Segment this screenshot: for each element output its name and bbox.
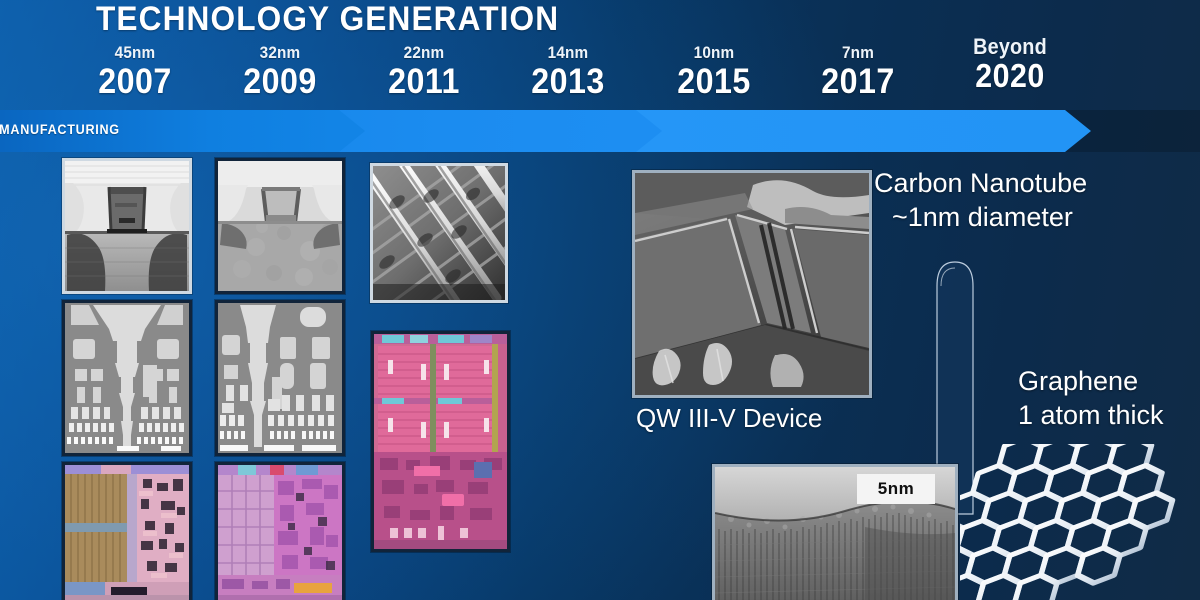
node-year: 2009 xyxy=(206,62,353,102)
slide-canvas: TECHNOLOGY GENERATION 45nm 2007 32nm 200… xyxy=(0,0,1200,600)
scale-bar-label: 5nm xyxy=(857,474,935,504)
phase-segment-manufacturing[interactable]: MANUFACTURING xyxy=(0,110,339,152)
carbon-nanotube-note: Carbon Nanotube ~1nm diameter xyxy=(874,166,1087,234)
node-year: 2013 xyxy=(494,62,641,102)
interconnect-32nm-micrograph xyxy=(218,303,342,453)
node-year: 2007 xyxy=(61,62,208,102)
graphene-honeycomb-lattice xyxy=(960,444,1200,600)
node-year: 2020 xyxy=(936,56,1083,96)
node-year: 2015 xyxy=(640,62,787,102)
node-label: 14nm xyxy=(496,44,640,62)
image-finfet-22nm xyxy=(370,163,508,303)
timeline-node-3: 14nm 2013 xyxy=(488,44,648,102)
cnt-line-2: ~1nm diameter xyxy=(892,200,1073,234)
timeline-node-2: 22nm 2011 xyxy=(344,44,504,102)
die-45nm-photo xyxy=(65,465,189,600)
node-label: Beyond xyxy=(938,38,1082,56)
transistor-32nm-micrograph xyxy=(218,161,342,291)
transistor-45nm-micrograph xyxy=(65,161,189,291)
finfet-sem-micrograph xyxy=(373,166,505,300)
graphene-illustration xyxy=(960,444,1200,600)
timeline-node-1: 32nm 2009 xyxy=(200,44,360,102)
image-qw-device xyxy=(632,170,872,398)
image-interconnect-45nm xyxy=(62,300,192,456)
die-22nm-photo xyxy=(374,334,507,549)
image-transistor-32nm xyxy=(215,158,345,294)
qw-device-caption: QW III-V Device xyxy=(636,403,822,434)
node-label: 10nm xyxy=(642,44,786,62)
node-label: 32nm xyxy=(208,44,352,62)
node-label: 7nm xyxy=(786,44,930,62)
page-title: TECHNOLOGY GENERATION xyxy=(96,0,559,38)
image-transistor-45nm xyxy=(62,158,192,294)
qw-device-sem xyxy=(635,173,869,395)
node-year: 2011 xyxy=(350,62,497,102)
timeline-phase-band: RESEARCH DEVELOPMENT MANUFACTURING xyxy=(0,110,1200,152)
phase-label: MANUFACTURING xyxy=(0,121,212,137)
image-die-22nm xyxy=(371,331,510,552)
graphene-line-2: 1 atom thick xyxy=(1018,400,1164,430)
image-die-45nm xyxy=(62,462,192,600)
interconnect-45nm-micrograph xyxy=(65,303,189,453)
node-label: 45nm xyxy=(63,44,207,62)
cnt-line-1: Carbon Nanotube xyxy=(874,168,1087,198)
timeline-node-6: Beyond 2020 xyxy=(930,38,1090,96)
timeline-node-5: 7nm 2017 xyxy=(778,44,938,102)
image-interconnect-32nm xyxy=(215,300,345,456)
timeline-node-0: 45nm 2007 xyxy=(55,44,215,102)
timeline-node-4: 10nm 2015 xyxy=(634,44,794,102)
node-year: 2017 xyxy=(784,62,931,102)
node-label: 22nm xyxy=(352,44,496,62)
graphene-line-1: Graphene xyxy=(1018,366,1138,396)
graphene-note: Graphene 1 atom thick xyxy=(1018,364,1164,432)
die-32nm-photo xyxy=(218,465,342,600)
image-die-32nm xyxy=(215,462,345,600)
